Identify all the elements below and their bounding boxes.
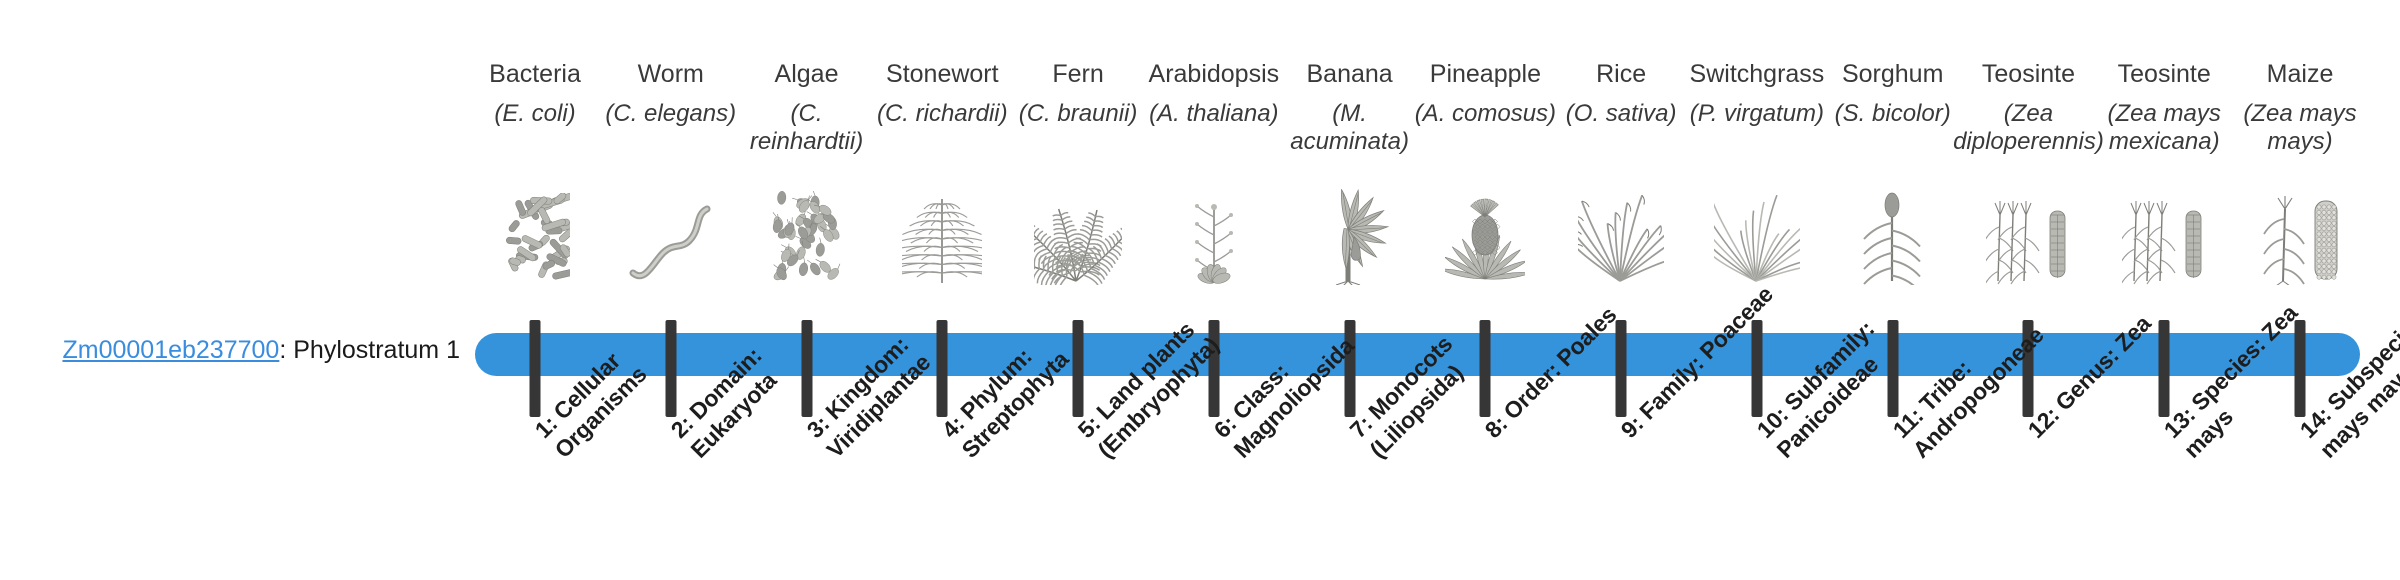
species-column-3: Algae(C. reinhardtii)	[731, 0, 883, 320]
species-common-name: Rice	[1545, 60, 1697, 89]
fern-icon	[1002, 160, 1154, 285]
species-scientific-name: (M. acuminata)	[1274, 100, 1426, 155]
phylostratigraphy-track: Bacteria(E. coli)Worm(C. elegans)Algae(C…	[475, 0, 2360, 580]
species-common-name: Teosinte	[2088, 60, 2240, 89]
species-common-name: Switchgrass	[1681, 60, 1833, 89]
species-common-name: Bacteria	[459, 60, 611, 89]
species-scientific-name: (A. comosus)	[1409, 100, 1561, 128]
species-column-9: Rice(O. sativa)	[1545, 0, 1697, 320]
species-scientific-name: (C. elegans)	[595, 100, 747, 128]
species-scientific-name: (E. coli)	[459, 100, 611, 128]
species-column-14: Maize(Zea mays mays)	[2224, 0, 2376, 320]
species-column-4: Stonewort(C. richardii)	[866, 0, 1018, 320]
species-common-name: Sorghum	[1817, 60, 1969, 89]
tick-mark-9[interactable]	[1616, 320, 1627, 417]
species-column-13: Teosinte(Zea mays mexicana)	[2088, 0, 2240, 320]
species-scientific-name: (A. thaliana)	[1138, 100, 1290, 128]
species-common-name: Fern	[1002, 60, 1154, 89]
species-scientific-name: (S. bicolor)	[1817, 100, 1969, 128]
species-column-2: Worm(C. elegans)	[595, 0, 747, 320]
species-common-name: Worm	[595, 60, 747, 89]
pineapple-icon	[1409, 160, 1561, 285]
species-common-name: Maize	[2224, 60, 2376, 89]
maize-icon	[2224, 160, 2376, 285]
gene-phylostratum-label: Zm00001eb237700: Phylostratum 1	[40, 335, 460, 365]
species-scientific-name: (P. virgatum)	[1681, 100, 1833, 128]
species-column-5: Fern(C. braunii)	[1002, 0, 1154, 320]
tick-mark-13[interactable]	[2159, 320, 2170, 417]
worm-icon	[595, 160, 747, 285]
sorghum-icon	[1817, 160, 1969, 285]
species-column-7: Banana(M. acuminata)	[1274, 0, 1426, 320]
species-scientific-name: (Zea mays mexicana)	[2088, 100, 2240, 155]
bacteria-icon	[459, 160, 611, 285]
species-common-name: Stonewort	[866, 60, 1018, 89]
teosinte-icon	[1952, 160, 2104, 285]
arabidopsis-icon	[1138, 160, 1290, 285]
species-common-name: Teosinte	[1952, 60, 2104, 89]
gene-label-separator: :	[279, 336, 293, 364]
species-common-name: Pineapple	[1409, 60, 1561, 89]
species-common-name: Banana	[1274, 60, 1426, 89]
species-column-11: Sorghum(S. bicolor)	[1817, 0, 1969, 320]
species-column-12: Teosinte(Zea diploperennis)	[1952, 0, 2104, 320]
species-scientific-name: (C. reinhardtii)	[731, 100, 883, 155]
species-scientific-name: (Zea diploperennis)	[1952, 100, 2104, 155]
gene-phylostratum-value: Phylostratum 1	[293, 336, 460, 364]
species-column-6: Arabidopsis(A. thaliana)	[1138, 0, 1290, 320]
stonewort-icon	[866, 160, 1018, 285]
species-common-name: Arabidopsis	[1138, 60, 1290, 89]
species-column-10: Switchgrass(P. virgatum)	[1681, 0, 1833, 320]
species-column-8: Pineapple(A. comosus)	[1409, 0, 1561, 320]
rice-icon	[1545, 160, 1697, 285]
gene-accession-link[interactable]: Zm00001eb237700	[62, 336, 279, 364]
species-scientific-name: (C. richardii)	[866, 100, 1018, 128]
species-scientific-name: (C. braunii)	[1002, 100, 1154, 128]
teosinte-icon	[2088, 160, 2240, 285]
species-scientific-name: (O. sativa)	[1545, 100, 1697, 128]
species-scientific-name: (Zea mays mays)	[2224, 100, 2376, 155]
switchgrass-icon	[1681, 160, 1833, 285]
species-column-1: Bacteria(E. coli)	[459, 0, 611, 320]
banana-icon	[1274, 160, 1426, 285]
tick-mark-1[interactable]	[530, 320, 541, 417]
tick-mark-10[interactable]	[1751, 320, 1762, 417]
species-common-name: Algae	[731, 60, 883, 89]
algae-icon	[731, 160, 883, 285]
